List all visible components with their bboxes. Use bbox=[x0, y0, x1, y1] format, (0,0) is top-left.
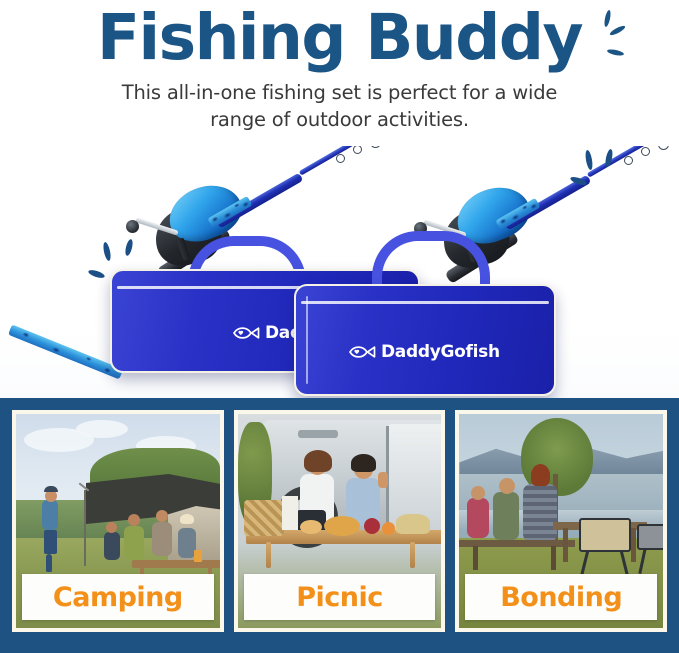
bag-zipper-line bbox=[301, 301, 549, 304]
bag-brand-front: DaddyGofish bbox=[348, 342, 500, 362]
rod-line-guide bbox=[658, 146, 669, 150]
feature-card-picnic[interactable]: Picnic bbox=[234, 410, 446, 632]
title-wrap: Fishing Buddy bbox=[83, 6, 596, 70]
page-title: Fishing Buddy bbox=[83, 6, 596, 70]
carry-bag-front: DaddyGofish bbox=[294, 284, 556, 396]
subtitle-line-1: This all-in-one fishing set is perfect f… bbox=[0, 80, 679, 106]
fish-heart-icon bbox=[232, 325, 260, 341]
feature-card-camping[interactable]: Camping bbox=[12, 410, 224, 632]
bonding-label: Bonding bbox=[500, 582, 622, 613]
camping-label: Camping bbox=[53, 582, 183, 613]
product-photo: DaddyGofish DaddyGofish bbox=[0, 146, 679, 398]
feature-card-bonding[interactable]: Bonding bbox=[455, 410, 667, 632]
reel-knob bbox=[126, 220, 139, 233]
bonding-label-strip: Bonding bbox=[465, 574, 657, 620]
rod-line-guide bbox=[641, 147, 650, 156]
picnic-label-strip: Picnic bbox=[244, 574, 436, 620]
bag-panel-seam bbox=[306, 296, 308, 384]
rod-line-guide bbox=[624, 156, 633, 165]
picnic-label: Picnic bbox=[296, 582, 383, 613]
sparkle-icon bbox=[603, 10, 611, 28]
bag-brand-text: DaddyGofish bbox=[381, 342, 500, 362]
subtitle: This all-in-one fishing set is perfect f… bbox=[0, 80, 679, 133]
subtitle-line-2: range of outdoor activities. bbox=[0, 107, 679, 133]
fish-heart-icon bbox=[348, 344, 376, 360]
sparkle-icon bbox=[607, 48, 625, 56]
header-section: Fishing Buddy This all-in-one fishing se… bbox=[0, 0, 679, 146]
rod-butt-section bbox=[8, 324, 123, 379]
camping-label-strip: Camping bbox=[22, 574, 214, 620]
feature-cards-band: Camping bbox=[0, 398, 679, 653]
sparkle-icon bbox=[609, 24, 626, 36]
